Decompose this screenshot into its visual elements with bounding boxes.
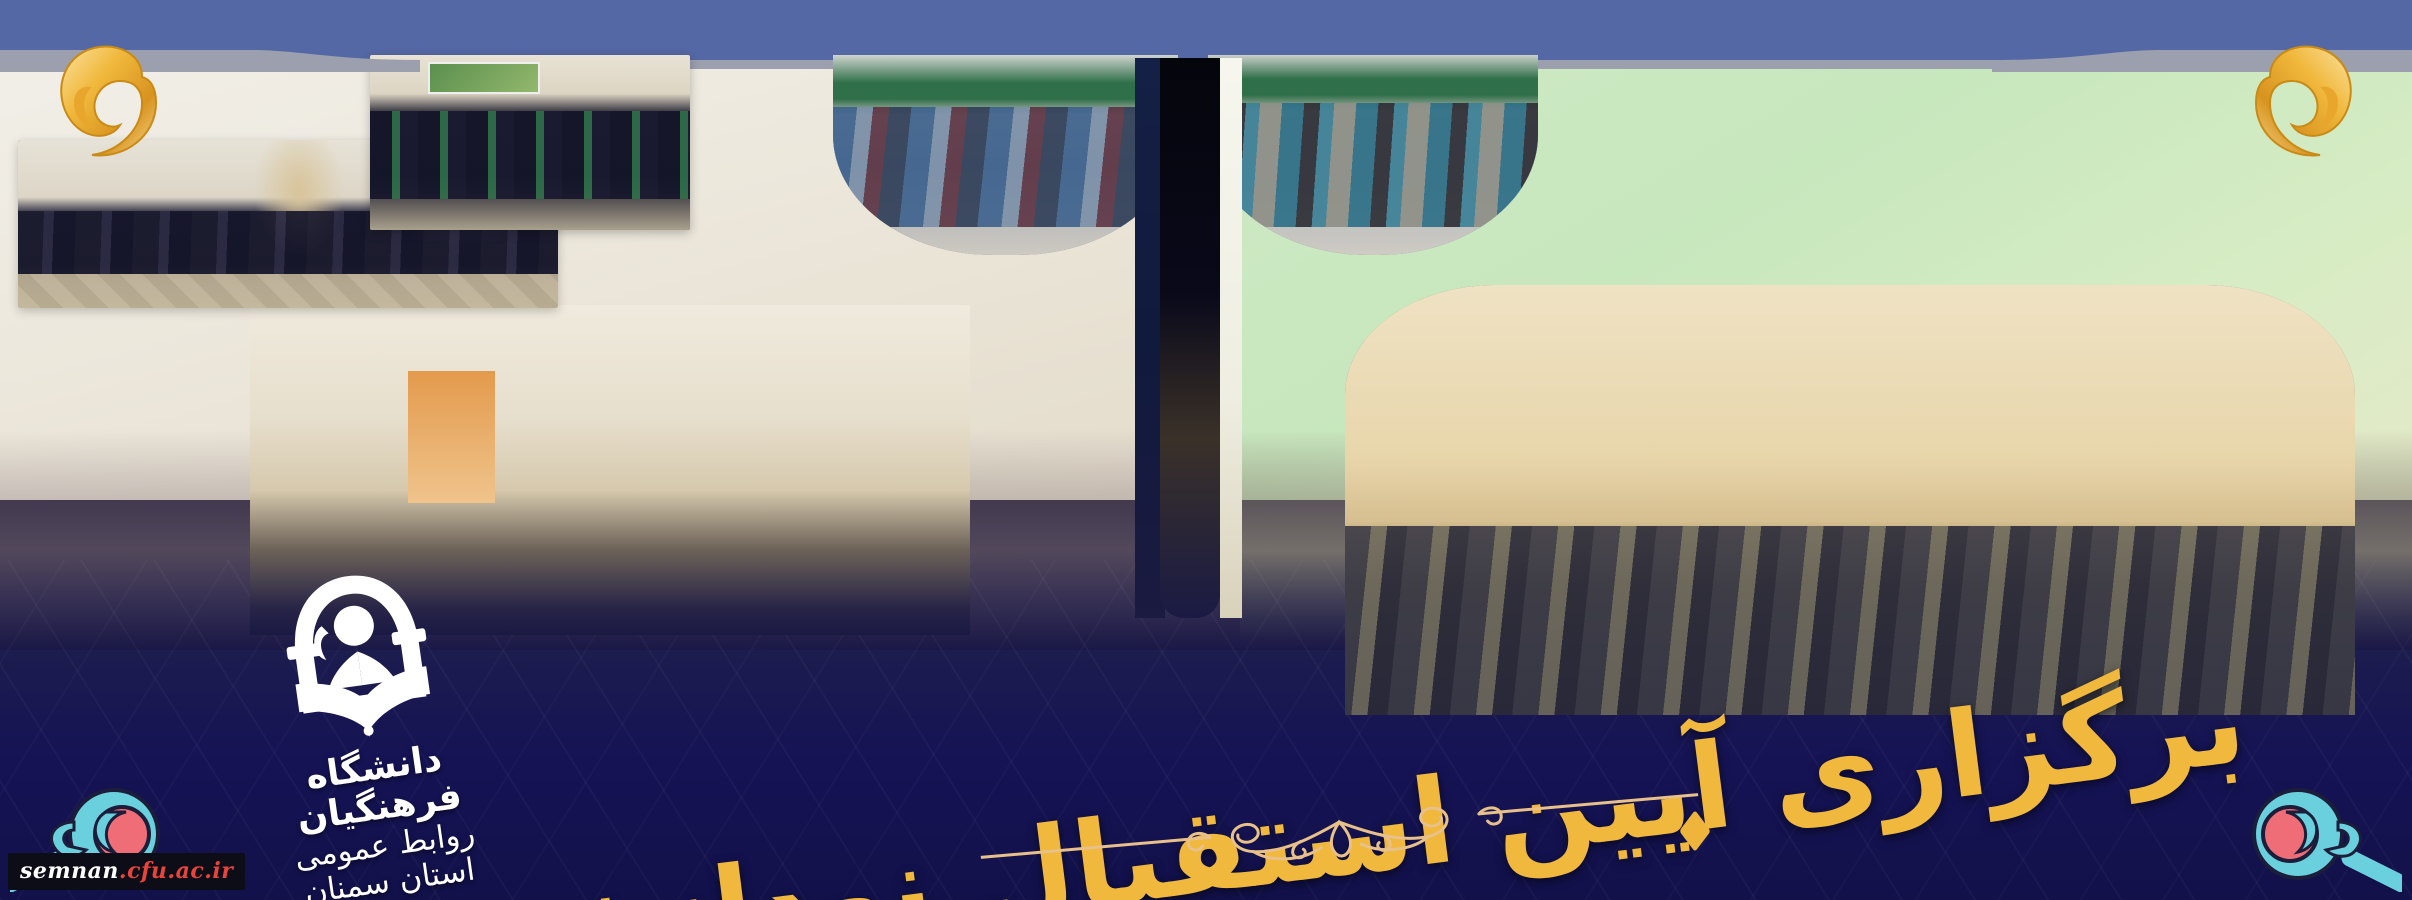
url-prefix: semnan xyxy=(20,858,119,884)
site-url-watermark: semnan.cfu.ac.ir xyxy=(8,853,245,890)
cfu-book-person-arch-logo-icon xyxy=(255,544,460,757)
photo-boys-seated-left xyxy=(833,55,1178,255)
gold-swirl-ornament-icon xyxy=(30,25,180,175)
photo-boys-seated-right xyxy=(1208,55,1538,255)
background-top-blue-band xyxy=(0,0,2412,66)
collage-divider-band xyxy=(1160,58,1220,618)
collage-divider-gap xyxy=(1220,58,1242,618)
photo-main-hall-assembly xyxy=(1345,285,2355,715)
photo-girls-classroom-rows xyxy=(370,55,690,230)
cyan-pink-flourish-ornament-icon xyxy=(2222,772,2402,892)
url-domain: .cfu.ac.ir xyxy=(119,858,233,884)
event-banner: برگزاری آیین استقبال نودانشجو معلمان ورو… xyxy=(0,0,2412,900)
gold-swirl-ornament-icon xyxy=(2232,25,2382,175)
university-logo: دانشگاه فرهنگیان روابط عمومی استان سمنان xyxy=(215,538,514,871)
